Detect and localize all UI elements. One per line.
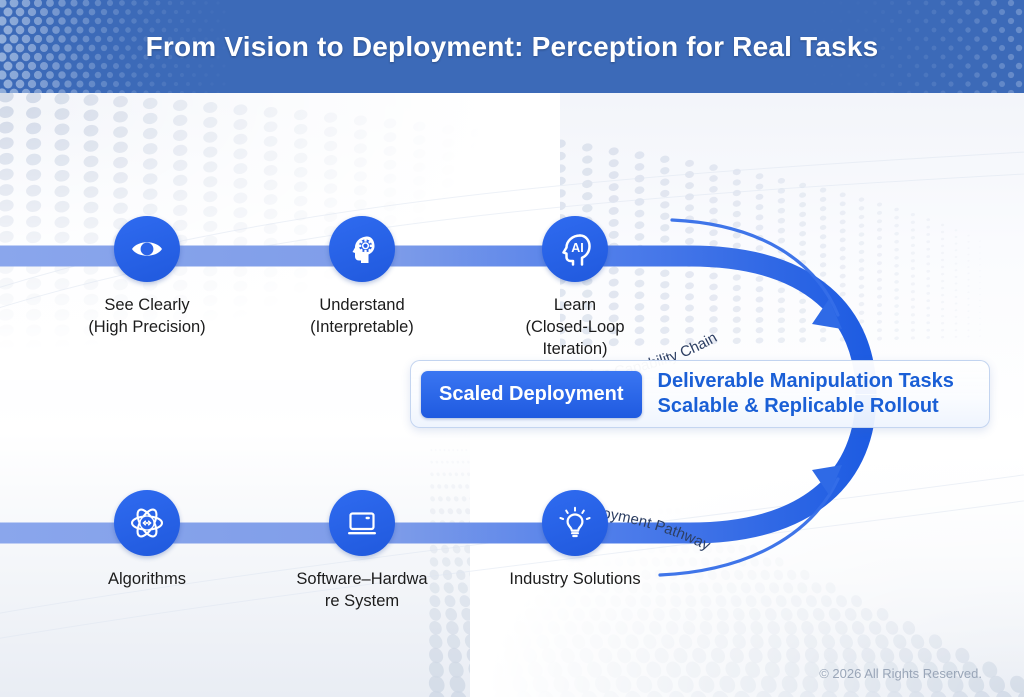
atom-icon: [128, 504, 166, 542]
scaled-deployment-card[interactable]: Scaled Deployment Deliverable Manipulati…: [410, 360, 990, 428]
node-label: Industry Solutions: [495, 568, 655, 590]
scaled-deployment-description: Deliverable Manipulation Tasks Scalable …: [658, 369, 979, 419]
node-understand[interactable]: Understand (Interpretable): [282, 216, 442, 338]
scaled-deployment-tag[interactable]: Scaled Deployment: [421, 371, 642, 418]
node-label: Understand (Interpretable): [282, 294, 442, 338]
node-learn[interactable]: AI Learn (Closed-Loop Iteration): [495, 216, 655, 360]
node-icon-wrapper: [329, 490, 395, 556]
head-gear-icon: [344, 231, 380, 267]
vision-chain-arrow: [672, 220, 842, 329]
node-algorithms[interactable]: Algorithms: [67, 490, 227, 590]
node-icon-wrapper: AI: [542, 216, 608, 282]
node-see-clearly[interactable]: See Clearly (High Precision): [67, 216, 227, 338]
node-icon-wrapper: [329, 216, 395, 282]
slide-canvas: From Vision to Deployment: Perception fo…: [0, 0, 1024, 697]
copyright-notice: © 2026 All Rights Reserved.: [819, 666, 982, 681]
node-icon-wrapper: [114, 216, 180, 282]
page-title: From Vision to Deployment: Perception fo…: [0, 0, 1024, 93]
node-label: Algorithms: [67, 568, 227, 590]
svg-text:AI: AI: [571, 241, 584, 255]
node-icon-wrapper: [542, 490, 608, 556]
eye-icon: [129, 231, 165, 267]
laptop-icon: [343, 504, 381, 542]
head-ai-icon: AI: [556, 230, 594, 268]
node-icon-wrapper: [114, 490, 180, 556]
node-software-hardware-system[interactable]: Software–Hardwa re System: [282, 490, 442, 612]
node-label: Software–Hardwa re System: [282, 568, 442, 612]
deployment-pathway-arrow: [660, 465, 842, 575]
node-label: See Clearly (High Precision): [67, 294, 227, 338]
node-industry-solutions[interactable]: Industry Solutions: [495, 490, 655, 590]
node-label: Learn (Closed-Loop Iteration): [495, 294, 655, 360]
header-banner: From Vision to Deployment: Perception fo…: [0, 0, 1024, 93]
lightbulb-icon: [556, 504, 594, 542]
